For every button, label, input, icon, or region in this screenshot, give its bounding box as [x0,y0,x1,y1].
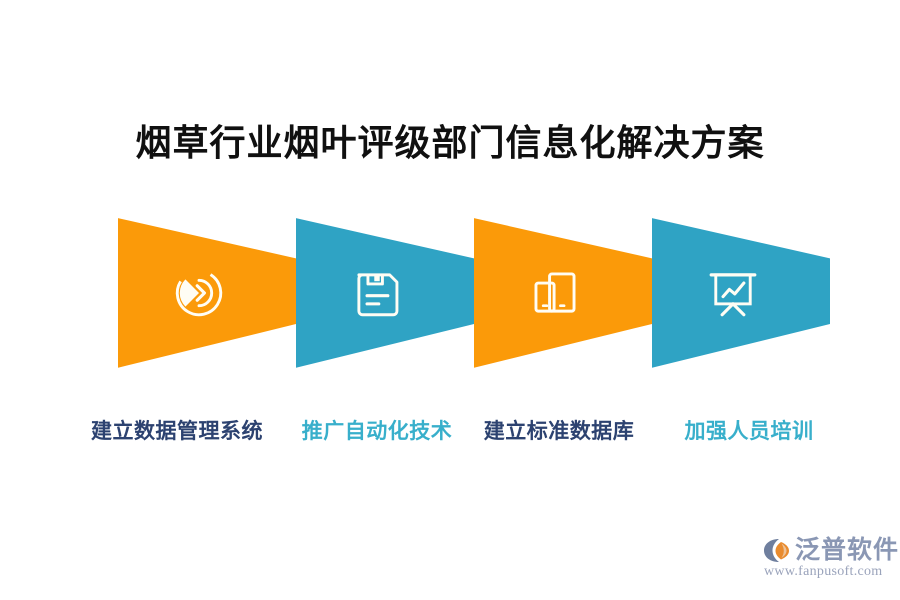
chevron-step-2[interactable] [296,205,474,380]
step-label-2: 推广自动化技术 [272,415,482,449]
chevron-row [0,205,900,385]
label-row: 建立数据管理系统 推广自动化技术 建立标准数据库 加强人员培训 [0,415,900,455]
fanpu-logo-icon [762,536,792,564]
page-title: 烟草行业烟叶评级部门信息化解决方案 [0,118,900,168]
logo-name: 泛普软件 [795,535,899,565]
presentation-chart-icon [698,258,768,328]
chevron-step-1[interactable] [118,205,296,380]
step-label-3: 建立标准数据库 [454,415,664,449]
chevron-step-4[interactable] [652,205,830,380]
infographic-canvas: 烟草行业烟叶评级部门信息化解决方案 [0,0,900,600]
brand-logo[interactable]: 泛普软件 www.fanpusoft.com [762,534,892,584]
devices-tablet-phone-icon [520,258,590,328]
chevron-step-3[interactable] [474,205,652,380]
logo-url: www.fanpusoft.com [762,564,892,580]
step-label-1: 建立数据管理系统 [72,415,282,449]
logo-top-row: 泛普软件 [762,534,892,566]
step-label-4: 加强人员培训 [644,415,854,449]
radar-signal-icon [164,258,234,328]
save-document-icon [342,258,412,328]
